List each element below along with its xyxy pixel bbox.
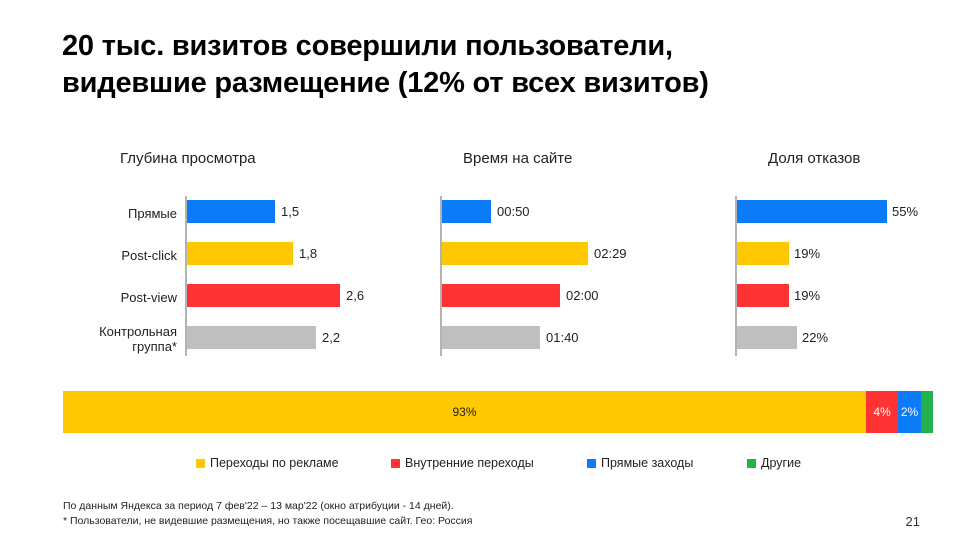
legend-swatch-internal-icon bbox=[391, 459, 400, 468]
legend-swatch-ads-icon bbox=[196, 459, 205, 468]
category-label-control-line-2: группа* bbox=[132, 339, 177, 354]
chart-row: 02:00 bbox=[430, 282, 690, 322]
stacked-label-direct: 2% bbox=[901, 405, 918, 419]
bar-bounce-post-view bbox=[737, 284, 789, 307]
chart-row: 55% bbox=[725, 198, 960, 238]
bar-depth-post-view bbox=[187, 284, 340, 307]
legend-swatch-direct-icon bbox=[587, 459, 596, 468]
legend-label-ads: Переходы по рекламе bbox=[210, 456, 339, 470]
category-label-control: Контрольная группа* bbox=[85, 324, 177, 355]
stacked-segment-ads: 93% bbox=[63, 391, 866, 433]
bar-time-control bbox=[442, 326, 540, 349]
stacked-label-internal: 4% bbox=[873, 405, 890, 419]
chart-row: 19% bbox=[725, 240, 960, 280]
bar-value-bounce-control: 22% bbox=[802, 330, 828, 345]
chart-row: 22% bbox=[725, 324, 960, 364]
bar-value-time-control: 01:40 bbox=[546, 330, 579, 345]
bar-depth-control bbox=[187, 326, 316, 349]
page-title: 20 тыс. визитов совершили пользователи, … bbox=[62, 28, 932, 102]
legend-item-other: Другие bbox=[747, 456, 801, 470]
bar-value-time-post-view: 02:00 bbox=[566, 288, 599, 303]
chart-time: 00:50 02:29 02:00 01:40 bbox=[430, 196, 690, 356]
bar-value-depth-post-click: 1,8 bbox=[299, 246, 317, 261]
chart-bounce: 55% 19% 19% 22% bbox=[725, 196, 960, 356]
chart-row: Прямые 1,5 bbox=[85, 198, 385, 238]
page-title-line-2: видевшие размещение (12% от всех визитов… bbox=[62, 65, 932, 102]
chart-row: 00:50 bbox=[430, 198, 690, 238]
stacked-traffic-bar: 93% 4% 2% bbox=[63, 391, 933, 433]
page-number: 21 bbox=[906, 514, 920, 529]
category-label-control-line-1: Контрольная bbox=[99, 324, 177, 339]
bar-time-direct bbox=[442, 200, 491, 223]
legend-swatch-other-icon bbox=[747, 459, 756, 468]
stacked-segment-other bbox=[921, 391, 933, 433]
page-title-line-1: 20 тыс. визитов совершили пользователи, bbox=[62, 28, 932, 65]
footnote-line-1: По данным Яндекса за период 7 фев'22 – 1… bbox=[63, 499, 763, 514]
legend-label-internal: Внутренние переходы bbox=[405, 456, 534, 470]
chart-row: 19% bbox=[725, 282, 960, 322]
bar-value-depth-control: 2,2 bbox=[322, 330, 340, 345]
chart-row: Post-click 1,8 bbox=[85, 240, 385, 280]
bar-depth-post-click bbox=[187, 242, 293, 265]
bar-value-bounce-post-click: 19% bbox=[794, 246, 820, 261]
bar-value-depth-direct: 1,5 bbox=[281, 204, 299, 219]
chart-title-time: Время на сайте bbox=[463, 150, 572, 167]
bar-time-post-click bbox=[442, 242, 588, 265]
legend-item-ads: Переходы по рекламе bbox=[196, 456, 339, 470]
chart-title-bounce: Доля отказов bbox=[768, 150, 860, 167]
stacked-label-ads: 93% bbox=[452, 405, 476, 419]
category-label-post-click: Post-click bbox=[85, 248, 177, 263]
chart-title-depth: Глубина просмотра bbox=[120, 150, 256, 167]
bar-bounce-direct bbox=[737, 200, 887, 223]
chart-depth: Прямые 1,5 Post-click 1,8 Post-view 2,6 … bbox=[85, 196, 385, 356]
footnote-line-2: * Пользователи, не видевшие размещения, … bbox=[63, 514, 763, 529]
bar-bounce-post-click bbox=[737, 242, 789, 265]
legend-label-direct: Прямые заходы bbox=[601, 456, 693, 470]
bar-value-bounce-direct: 55% bbox=[892, 204, 918, 219]
chart-row: 01:40 bbox=[430, 324, 690, 364]
bar-value-time-direct: 00:50 bbox=[497, 204, 530, 219]
bar-depth-direct bbox=[187, 200, 275, 223]
legend-label-other: Другие bbox=[761, 456, 801, 470]
stacked-segment-direct: 2% bbox=[898, 391, 921, 433]
bar-value-depth-post-view: 2,6 bbox=[346, 288, 364, 303]
category-label-post-view: Post-view bbox=[85, 290, 177, 305]
stacked-segment-internal: 4% bbox=[866, 391, 898, 433]
bar-value-time-post-click: 02:29 bbox=[594, 246, 627, 261]
stacked-bar-legend: Переходы по рекламе Внутренние переходы … bbox=[0, 456, 974, 476]
legend-item-internal: Внутренние переходы bbox=[391, 456, 534, 470]
chart-headings: Глубина просмотра Время на сайте Доля от… bbox=[0, 150, 974, 172]
bar-time-post-view bbox=[442, 284, 560, 307]
footnote: По данным Яндекса за период 7 фев'22 – 1… bbox=[63, 499, 763, 529]
category-label-direct: Прямые bbox=[85, 206, 177, 221]
chart-row: Post-view 2,6 bbox=[85, 282, 385, 322]
legend-item-direct: Прямые заходы bbox=[587, 456, 693, 470]
chart-row: Контрольная группа* 2,2 bbox=[85, 324, 385, 364]
chart-row: 02:29 bbox=[430, 240, 690, 280]
bar-bounce-control bbox=[737, 326, 797, 349]
bar-value-bounce-post-view: 19% bbox=[794, 288, 820, 303]
